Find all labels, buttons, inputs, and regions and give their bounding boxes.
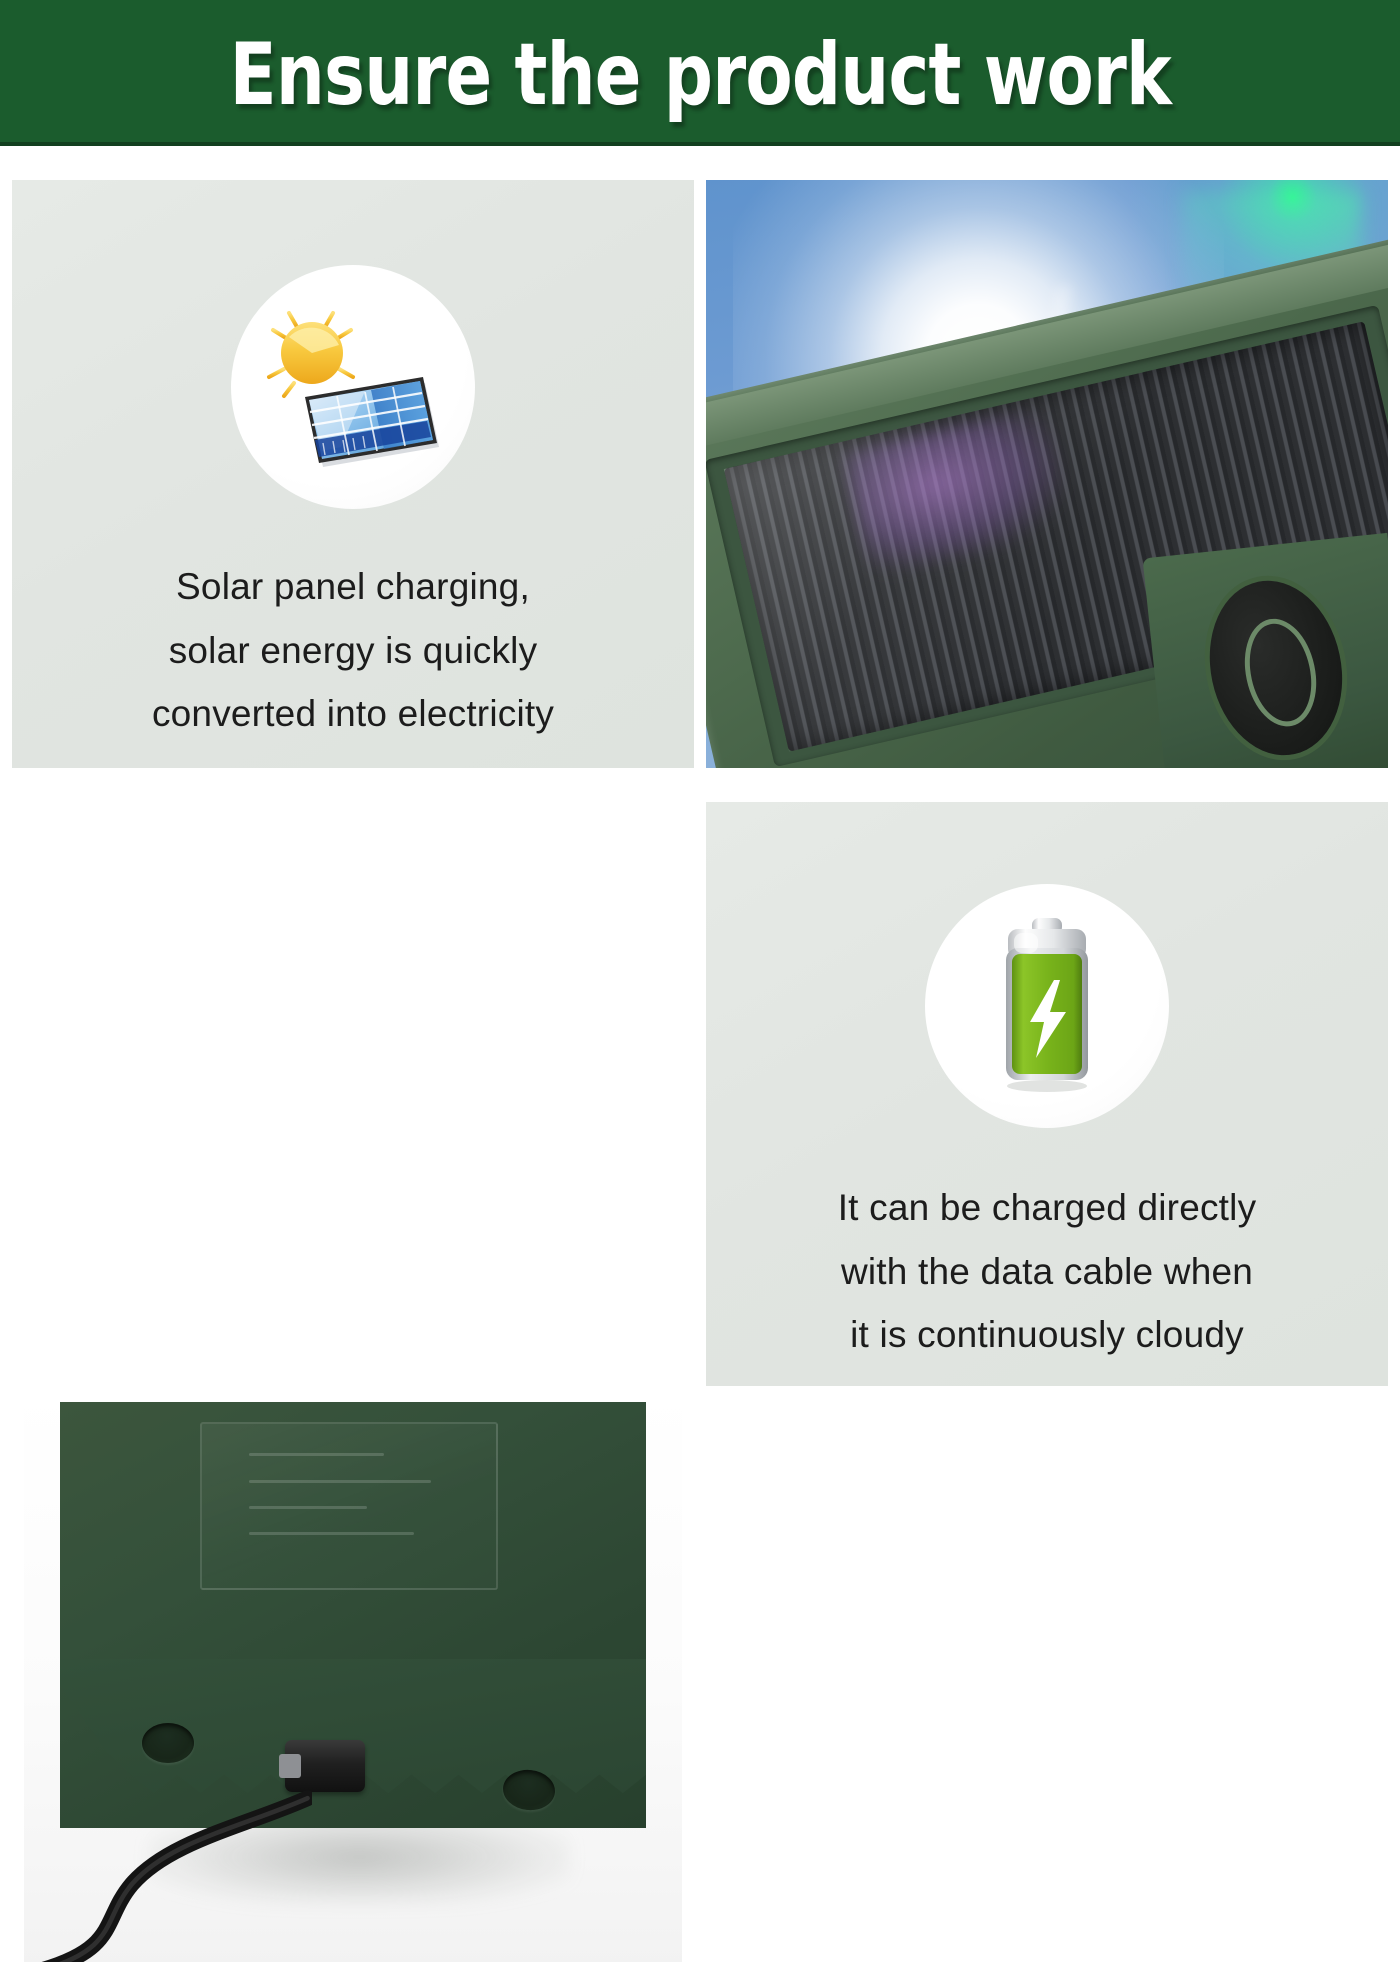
embossed-label-plate	[200, 1422, 497, 1590]
feature-caption-solar: Solar panel charging, solar energy is qu…	[152, 555, 554, 746]
charging-connector	[285, 1740, 365, 1792]
battery-icon-badge	[925, 884, 1169, 1128]
header-banner: Ensure the product work	[0, 0, 1400, 146]
product-infographic-page: Ensure the product work	[0, 0, 1400, 1400]
feature-card-solar-charging: Solar panel charging, solar energy is qu…	[12, 180, 694, 768]
page-title: Ensure the product work	[229, 32, 1170, 118]
solar-panel-in-sunlight-photo	[706, 180, 1388, 768]
mounting-hole-left	[142, 1723, 194, 1763]
feature-grid: Solar panel charging, solar energy is qu…	[12, 180, 1388, 1386]
usb-cable-connected-photo	[12, 1390, 694, 1974]
feature-card-cable-charging: It can be charged directly with the data…	[706, 802, 1388, 1386]
feature-caption-cable: It can be charged directly with the data…	[838, 1176, 1257, 1367]
solar-icon-badge	[231, 265, 475, 509]
solar-panel-sun-icon	[253, 297, 453, 477]
battery-charging-icon	[982, 916, 1112, 1096]
charging-cable	[26, 1787, 312, 1974]
